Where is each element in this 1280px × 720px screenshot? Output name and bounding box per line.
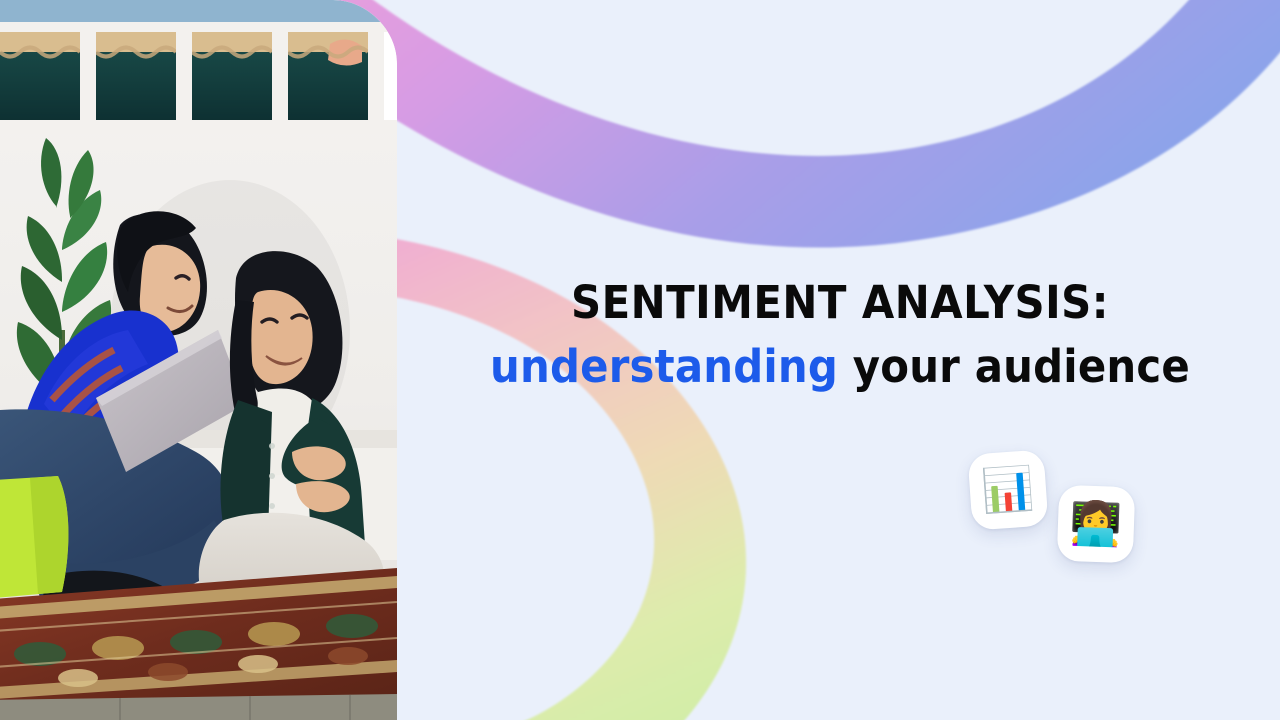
headline-block: SENTIMENT ANALYSIS: understanding your a… <box>430 278 1250 393</box>
bar-chart-badge[interactable]: 📊 <box>967 449 1048 530</box>
page-subtitle: understanding your audience <box>459 342 1222 392</box>
slide-canvas: SENTIMENT ANALYSIS: understanding your a… <box>0 0 1280 720</box>
emoji-badge-group: 📊 👩‍💻 <box>962 442 1162 582</box>
page-subtitle-accent: understanding <box>490 340 838 393</box>
woman-technologist-badge[interactable]: 👩‍💻 <box>1057 485 1136 564</box>
bar-chart-icon: 📊 <box>980 467 1035 513</box>
page-subtitle-rest: your audience <box>838 340 1190 393</box>
people-with-laptop-photo <box>0 0 397 720</box>
page-title: SENTIMENT ANALYSIS: <box>459 278 1222 328</box>
woman-technologist-icon: 👩‍💻 <box>1069 502 1123 546</box>
window-band <box>0 0 397 134</box>
green-stool <box>0 476 68 598</box>
